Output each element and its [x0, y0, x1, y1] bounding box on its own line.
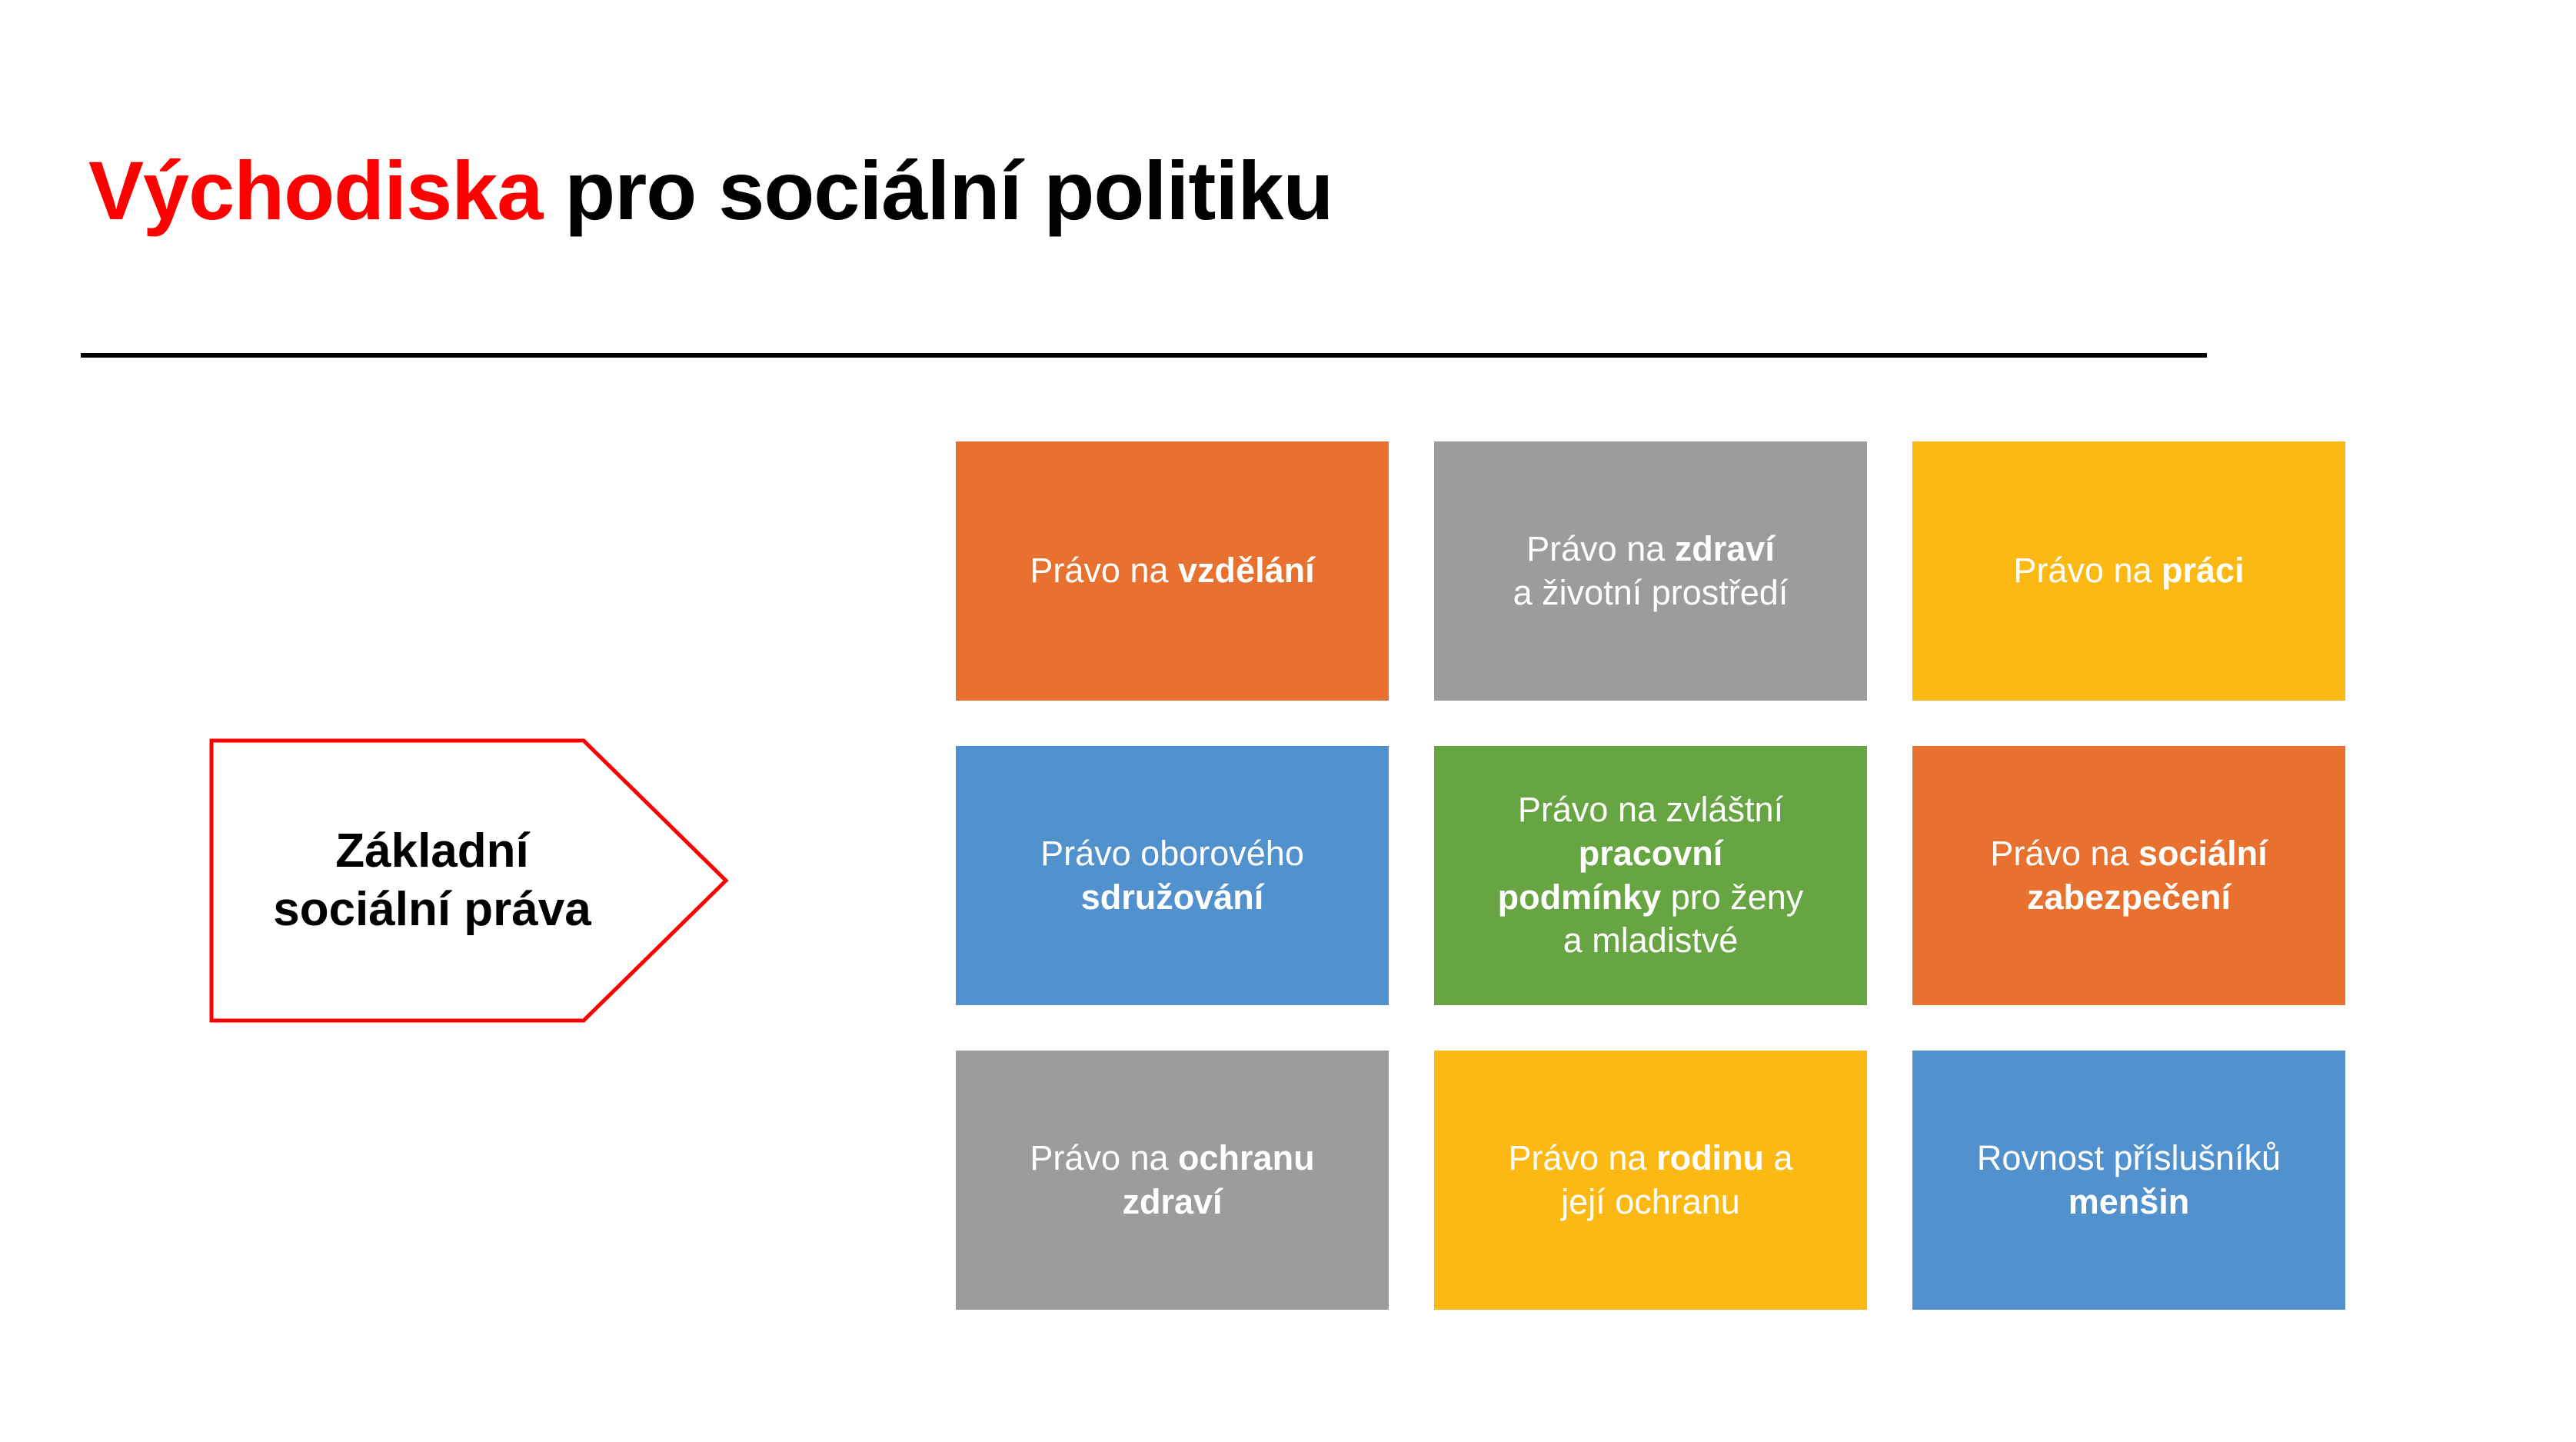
page-title-accent: Východiska: [88, 144, 542, 237]
tile-line: podmínky pro ženy: [1498, 876, 1804, 920]
tile-pravo-na-praci[interactable]: Právo na práci: [1912, 441, 2345, 701]
tile-line: Právo na zdraví: [1513, 528, 1789, 571]
tile-text: Právo na zvláštnípracovnípodmínky pro že…: [1498, 788, 1804, 963]
tile-text-regular: pro ženy: [1661, 878, 1803, 917]
page-title: Východiska pro sociální politiku: [88, 142, 1333, 238]
page-title-rest: pro sociální politiku: [542, 144, 1333, 237]
tile-pravo-na-vzdelani[interactable]: Právo na vzdělání: [956, 441, 1389, 701]
tile-line: Právo na sociální: [1990, 832, 2267, 876]
tile-line: sdružování: [1040, 876, 1304, 920]
tile-line: Právo na ochranu: [1030, 1137, 1314, 1181]
tile-line: její ochranu: [1508, 1181, 1792, 1224]
tile-text: Rovnost příslušníkůmenšin: [1977, 1137, 2281, 1224]
tile-text-regular: Právo na: [1030, 551, 1178, 590]
tile-text: Právo na sociálnízabezpečení: [1990, 832, 2267, 919]
tile-line: a mladistvé: [1498, 919, 1804, 963]
tile-line: Právo na vzdělání: [1030, 549, 1314, 593]
tile-text-bold: sdružování: [1081, 878, 1264, 917]
tile-text-regular: Právo na: [2013, 551, 2162, 590]
tile-line: a životní prostředí: [1513, 571, 1789, 615]
tile-line: pracovní: [1498, 832, 1804, 876]
callout-line-2: sociální práva: [273, 881, 591, 939]
tile-text-bold: rodinu: [1656, 1138, 1764, 1177]
tile-pravo-na-ochranu-zdravi[interactable]: Právo na ochranuzdraví: [956, 1051, 1389, 1310]
tile-text: Právo na vzdělání: [1030, 549, 1314, 593]
tile-pravo-oboroveho-sdruzovani[interactable]: Právo oborovéhosdružování: [956, 746, 1389, 1005]
tile-line: zabezpečení: [1990, 876, 2267, 920]
tile-pravo-na-zdravi-a-zivotni-prostredi[interactable]: Právo na zdravía životní prostředí: [1434, 441, 1867, 701]
tile-text-bold: vzdělání: [1178, 551, 1315, 590]
tile-text-regular: Právo na: [1030, 1138, 1178, 1177]
tile-text-regular: a mladistvé: [1563, 921, 1739, 960]
tile-text-bold: zabezpečení: [2027, 878, 2231, 917]
rights-tile-grid: Právo na vzděláníPrávo na zdravía životn…: [956, 441, 2345, 1310]
tile-line: zdraví: [1030, 1181, 1314, 1224]
tile-text: Právo na práci: [2013, 549, 2244, 593]
tile-text-bold: podmínky: [1498, 878, 1662, 917]
title-divider: [81, 353, 2207, 358]
slide-canvas: Východiska pro sociální politiku Základn…: [0, 0, 2576, 1442]
tile-rovnost-prislusniku-mensin[interactable]: Rovnost příslušníkůmenšin: [1912, 1051, 2345, 1310]
tile-text-bold: ochranu: [1178, 1138, 1315, 1177]
tile-text-regular: Rovnost příslušníků: [1977, 1138, 2281, 1177]
tile-text-bold: práci: [2162, 551, 2245, 590]
tile-line: Rovnost příslušníků: [1977, 1137, 2281, 1181]
callout-chevron: Základní sociální práva: [209, 738, 728, 1023]
tile-text: Právo na rodinu ajejí ochranu: [1508, 1137, 1792, 1224]
tile-pravo-na-rodinu-a-jeji-ochranu[interactable]: Právo na rodinu ajejí ochranu: [1434, 1051, 1867, 1310]
tile-pravo-na-zvlastni-pracovni-podminky[interactable]: Právo na zvláštnípracovnípodmínky pro že…: [1434, 746, 1867, 1005]
tile-line: Právo na práci: [2013, 549, 2244, 593]
tile-pravo-na-socialni-zabezpeceni[interactable]: Právo na sociálnízabezpečení: [1912, 746, 2345, 1005]
tile-text-regular: Právo na: [1526, 529, 1675, 568]
tile-text: Právo na ochranuzdraví: [1030, 1137, 1314, 1224]
tile-text-regular: a životní prostředí: [1513, 573, 1789, 612]
callout-label: Základní sociální práva: [209, 738, 655, 1023]
tile-line: menšin: [1977, 1181, 2281, 1224]
tile-text-bold: pracovní: [1579, 834, 1723, 873]
tile-text: Právo na zdravía životní prostředí: [1513, 528, 1789, 614]
tile-text-regular: Právo oborového: [1040, 834, 1304, 873]
tile-text-regular: a: [1764, 1138, 1793, 1177]
tile-line: Právo oborového: [1040, 832, 1304, 876]
tile-line: Právo na rodinu a: [1508, 1137, 1792, 1181]
tile-text-bold: menšin: [2068, 1182, 2190, 1221]
tile-text-regular: Právo na: [1990, 834, 2138, 873]
tile-text-bold: zdraví: [1122, 1182, 1222, 1221]
tile-text: Právo oborovéhosdružování: [1040, 832, 1304, 919]
tile-text-bold: zdraví: [1675, 529, 1775, 568]
tile-text-bold: sociální: [2138, 834, 2268, 873]
tile-line: Právo na zvláštní: [1498, 788, 1804, 832]
tile-text-regular: její ochranu: [1561, 1182, 1740, 1221]
tile-text-regular: Právo na zvláštní: [1518, 790, 1783, 829]
tile-text-regular: Právo na: [1508, 1138, 1656, 1177]
callout-line-1: Základní: [335, 822, 529, 881]
